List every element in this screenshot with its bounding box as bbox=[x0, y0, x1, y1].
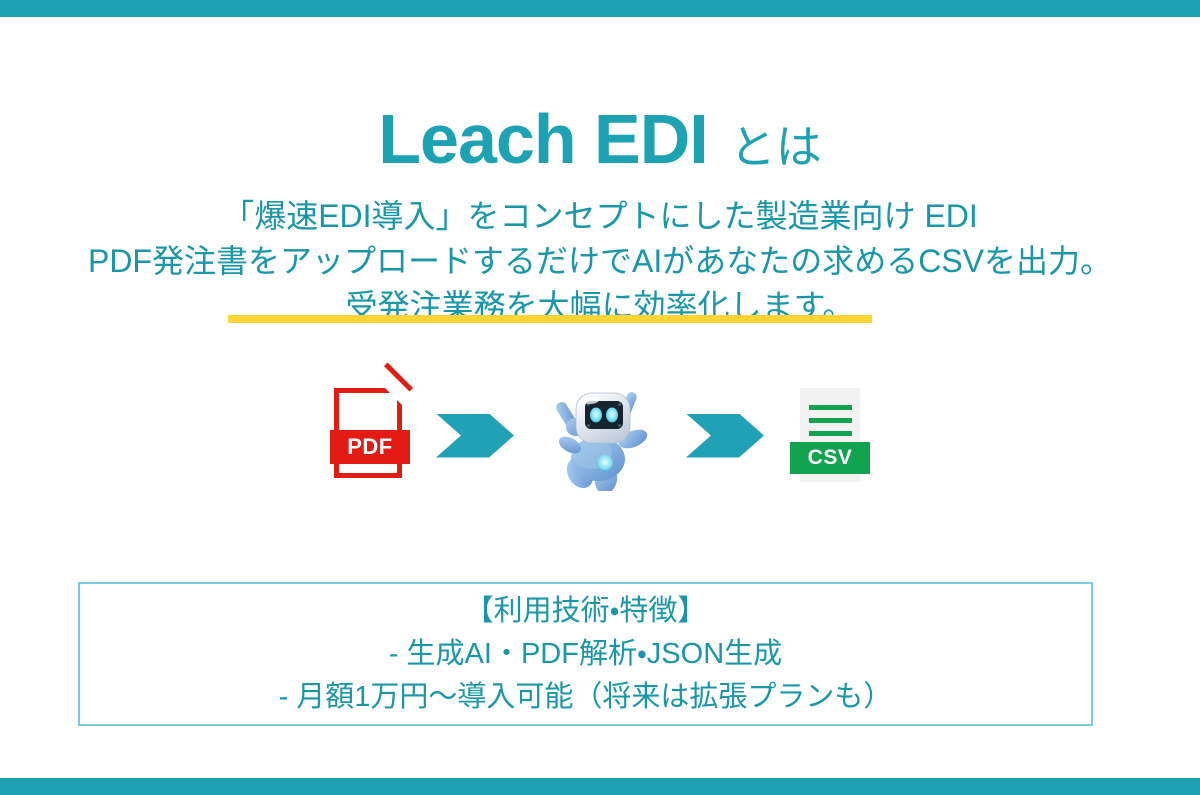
pdf-fold-corner-icon bbox=[384, 387, 410, 413]
csv-label-text: CSV bbox=[808, 446, 853, 470]
subtitle-line-1: 「爆速EDI導入」をコンセプトにした製造業向け EDI bbox=[0, 194, 1200, 239]
arrow-right-icon-2 bbox=[686, 414, 764, 458]
yellow-underline-highlight bbox=[228, 315, 872, 323]
pdf-file-icon: PDF bbox=[330, 388, 410, 484]
csv-file-icon: CSV bbox=[790, 388, 870, 484]
csv-content-line-2 bbox=[809, 418, 852, 423]
ai-robot-mascot-icon bbox=[540, 381, 660, 491]
arrow-right-icon-1 bbox=[436, 414, 514, 458]
bottom-accent-bar bbox=[0, 778, 1200, 795]
pdf-label-band: PDF bbox=[330, 430, 410, 464]
subtitle-line-2: PDF発注書をアップロードするだけでAIがあなたの求めるCSVを出力。 bbox=[0, 239, 1200, 284]
top-accent-bar bbox=[0, 0, 1200, 17]
pdf-label-text: PDF bbox=[347, 434, 393, 460]
page-title: Leach EDIとは bbox=[0, 104, 1200, 174]
subtitle-block: 「爆速EDI導入」をコンセプトにした製造業向け EDI PDF発注書をアップロー… bbox=[0, 194, 1200, 329]
csv-content-line-3 bbox=[809, 431, 852, 436]
title-suffix-text: とは bbox=[730, 121, 822, 173]
feature-line-2: - 生成AI・PDF解析・JSON生成 bbox=[389, 633, 782, 676]
process-flow-diagram: PDF bbox=[330, 378, 870, 493]
feature-line-1: 【利用技術・特徴】 bbox=[465, 590, 707, 633]
title-main-text: Leach EDI bbox=[378, 100, 707, 178]
csv-label-band: CSV bbox=[790, 442, 870, 474]
slide-root: Leach EDIとは 「爆速EDI導入」をコンセプトにした製造業向け EDI … bbox=[0, 0, 1200, 795]
feature-line-3: - 月額1万円〜導入可能（将来は拡張プランも） bbox=[279, 676, 893, 719]
csv-content-line-1 bbox=[809, 405, 852, 410]
feature-box: 【利用技術・特徴】 - 生成AI・PDF解析・JSON生成 - 月額1万円〜導入… bbox=[78, 582, 1093, 726]
